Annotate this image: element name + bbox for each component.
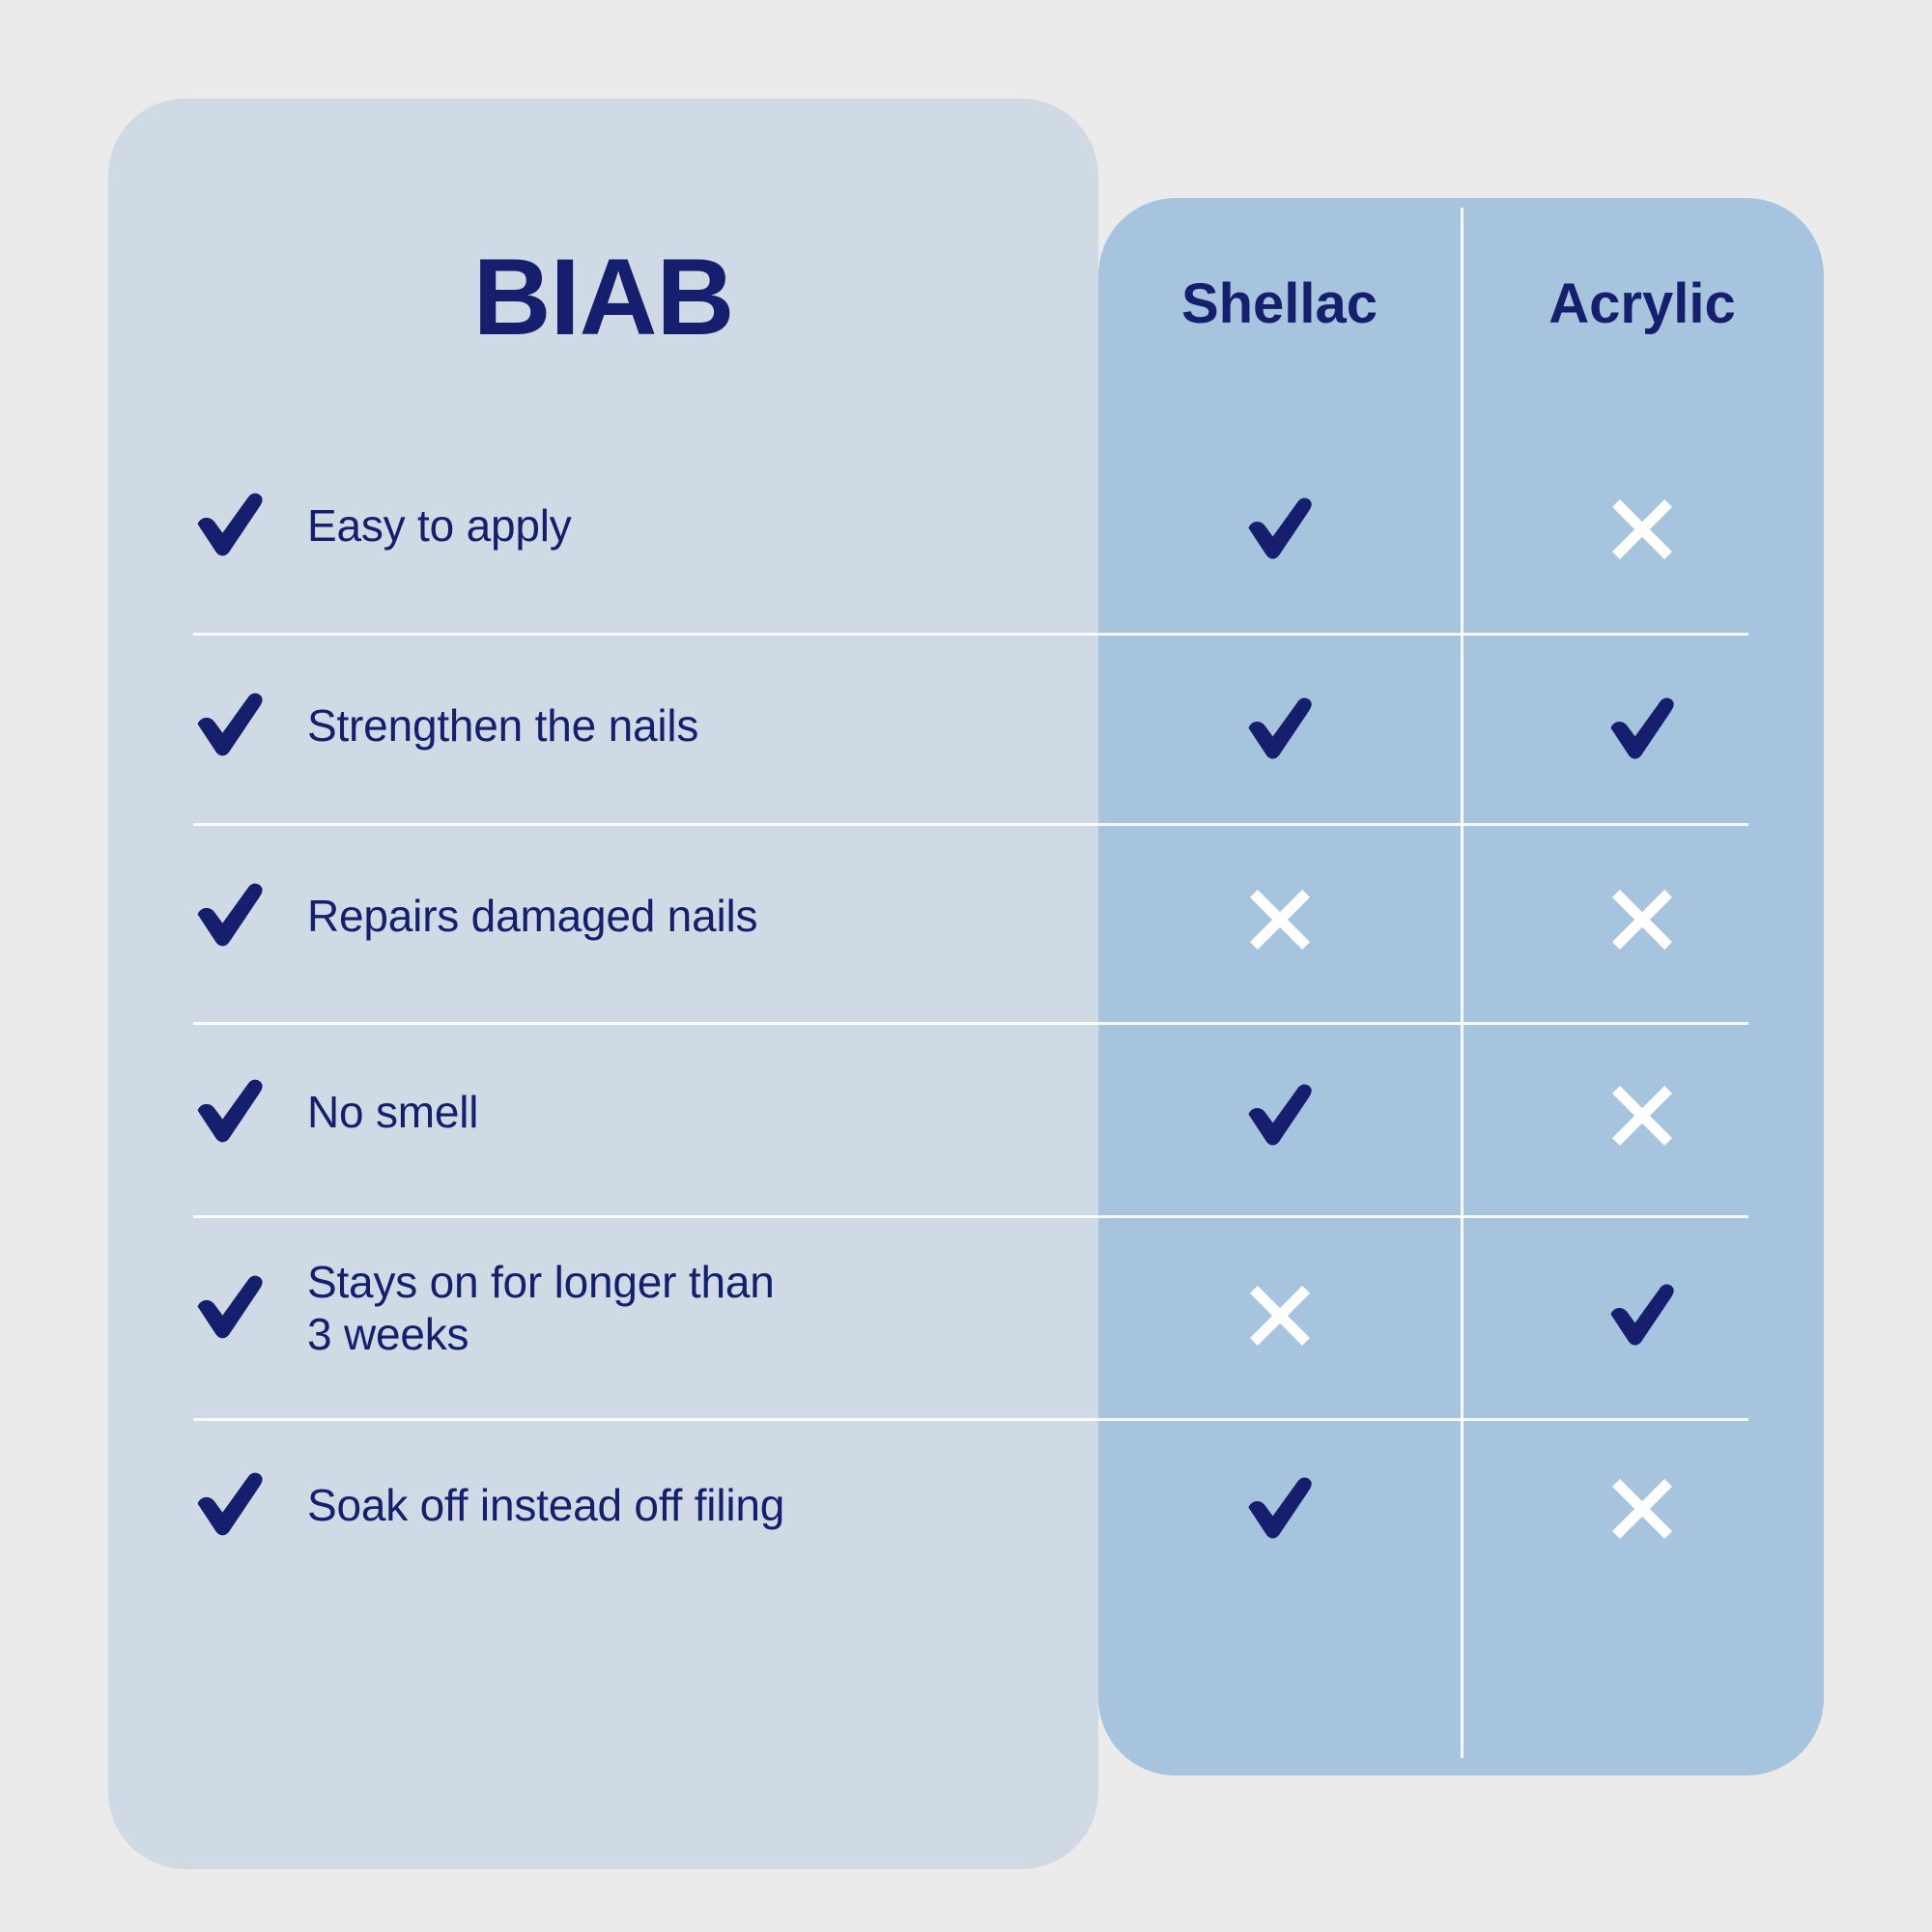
cell-shellac <box>1098 491 1461 568</box>
cell-acrylic <box>1461 491 1824 568</box>
checkmark-icon <box>193 879 267 952</box>
checkmark-icon <box>1244 494 1316 565</box>
cell-acrylic <box>1461 691 1824 768</box>
feature-cell: Repairs damaged nails <box>193 879 757 952</box>
feature-label: Stays on for longer than 3 weeks <box>307 1256 775 1361</box>
cell-shellac <box>1098 691 1461 768</box>
cell-shellac <box>1098 1470 1461 1548</box>
row-divider <box>193 1418 1748 1421</box>
checkmark-icon <box>1244 1473 1316 1545</box>
cell-acrylic <box>1461 1470 1824 1548</box>
feature-label: No smell <box>307 1086 478 1138</box>
checkmark-icon <box>193 1468 267 1542</box>
checkmark-icon <box>1606 694 1678 765</box>
cell-acrylic <box>1461 1277 1824 1354</box>
checkmark-icon <box>193 1075 267 1149</box>
cross-icon <box>1610 497 1674 561</box>
biab-panel <box>108 99 1098 1869</box>
cell-shellac <box>1098 1077 1461 1154</box>
row-divider <box>193 1215 1748 1218</box>
cell-acrylic <box>1461 1077 1824 1154</box>
cell-acrylic <box>1461 881 1824 958</box>
checkmark-icon <box>1244 694 1316 765</box>
cross-icon <box>1610 1084 1674 1148</box>
feature-cell: Stays on for longer than 3 weeks <box>193 1256 775 1361</box>
checkmark-icon <box>1606 1280 1678 1351</box>
feature-cell: Easy to apply <box>193 489 572 562</box>
comparison-infographic: BIAB Shellac Acrylic Easy to applyStreng… <box>0 0 1932 1932</box>
feature-label: Strengthen the nails <box>307 699 698 752</box>
cross-icon <box>1610 888 1674 952</box>
cross-icon <box>1248 888 1312 952</box>
column-header-acrylic: Acrylic <box>1461 276 1824 332</box>
feature-cell: Strengthen the nails <box>193 689 698 762</box>
page-title: BIAB <box>108 243 1098 352</box>
cell-shellac <box>1098 881 1461 958</box>
row-divider <box>193 633 1748 636</box>
feature-label: Easy to apply <box>307 499 572 552</box>
cell-shellac <box>1098 1277 1461 1354</box>
checkmark-icon <box>193 1271 267 1345</box>
row-divider <box>193 823 1748 826</box>
feature-label: Repairs damaged nails <box>307 890 757 942</box>
checkmark-icon <box>1244 1080 1316 1151</box>
feature-cell: Soak off instead off filing <box>193 1468 784 1542</box>
checkmark-icon <box>193 489 267 562</box>
feature-label: Soak off instead off filing <box>307 1479 784 1531</box>
feature-cell: No smell <box>193 1075 478 1149</box>
cross-icon <box>1248 1284 1312 1348</box>
column-header-shellac: Shellac <box>1098 276 1461 332</box>
row-divider <box>193 1022 1748 1025</box>
cross-icon <box>1610 1477 1674 1541</box>
checkmark-icon <box>193 689 267 762</box>
